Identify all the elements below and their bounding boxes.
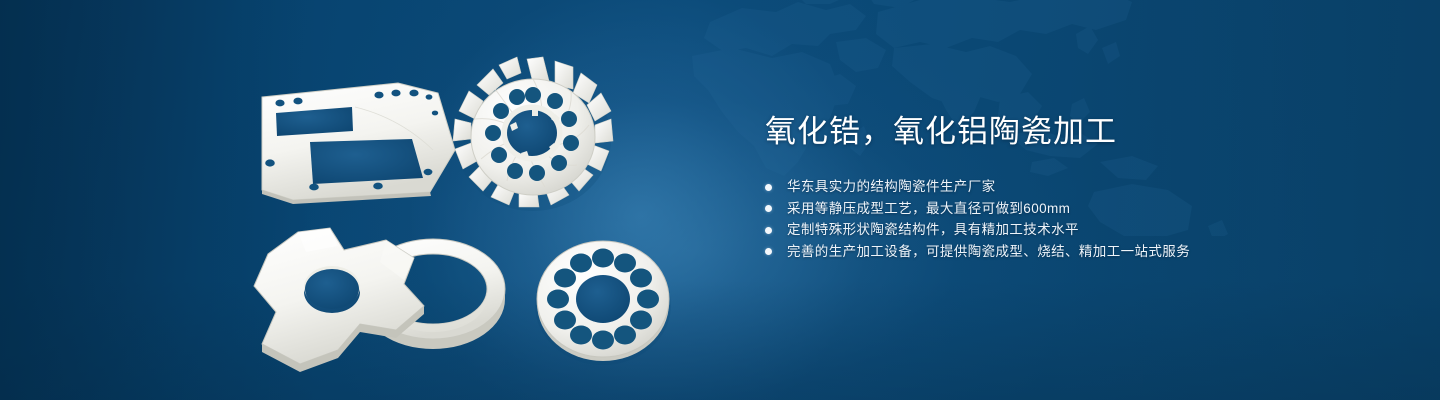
ceramic-impeller-shape	[453, 57, 613, 211]
list-item: 定制特殊形状陶瓷结构件，具有精加工技术水平	[765, 219, 1405, 241]
ceramic-cross-shape	[254, 228, 424, 372]
promo-banner: 氧化锆，氧化铝陶瓷加工 华东具实力的结构陶瓷件生产厂家 采用等静压成型工艺，最大…	[0, 0, 1440, 400]
feature-text: 采用等静压成型工艺，最大直径可做到600mm	[787, 201, 1070, 216]
list-item: 采用等静压成型工艺，最大直径可做到600mm	[765, 198, 1405, 220]
list-item: 华东具实力的结构陶瓷件生产厂家	[765, 176, 1405, 198]
feature-list: 华东具实力的结构陶瓷件生产厂家 采用等静压成型工艺，最大直径可做到600mm 定…	[765, 176, 1405, 262]
ceramic-perforated-disc-shape	[535, 241, 671, 365]
ceramic-flat-plate-shape	[262, 83, 455, 204]
feature-text: 华东具实力的结构陶瓷件生产厂家	[787, 179, 996, 194]
bullet-dot-icon	[765, 227, 772, 234]
page-title: 氧化锆，氧化铝陶瓷加工	[765, 112, 1405, 152]
feature-text: 定制特殊形状陶瓷结构件，具有精加工技术水平	[787, 222, 1079, 237]
feature-text: 完善的生产加工设备，可提供陶瓷成型、烧结、精加工一站式服务	[787, 244, 1190, 259]
bullet-dot-icon	[765, 184, 772, 191]
product-images	[0, 0, 760, 400]
bullet-dot-icon	[765, 248, 772, 255]
banner-text-block: 氧化锆，氧化铝陶瓷加工 华东具实力的结构陶瓷件生产厂家 采用等静压成型工艺，最大…	[765, 112, 1405, 262]
bullet-dot-icon	[765, 205, 772, 212]
list-item: 完善的生产加工设备，可提供陶瓷成型、烧结、精加工一站式服务	[765, 241, 1405, 263]
